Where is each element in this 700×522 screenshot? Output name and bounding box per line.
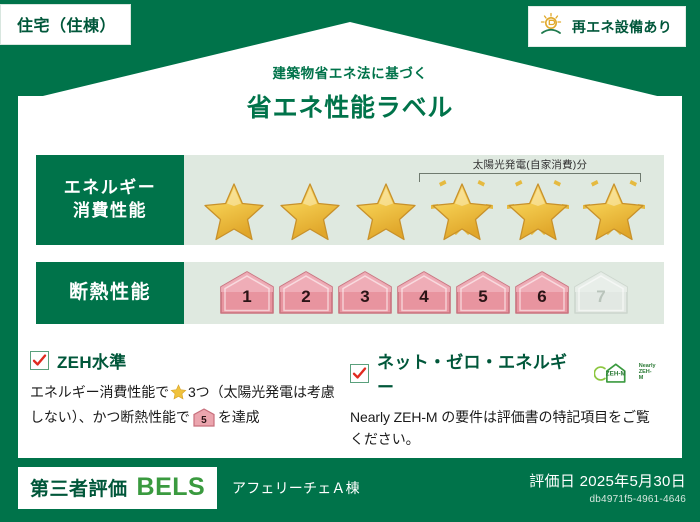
inline-star-icon xyxy=(170,384,187,407)
energy-row-value: 太陽光発電(自家消費)分 xyxy=(184,155,664,245)
insulation-level-number: 3 xyxy=(336,287,394,307)
insulation-level-scale: 1 2 3 4 5 6 7 xyxy=(218,270,630,316)
insulation-level-4: 4 xyxy=(395,270,453,316)
title-block: 建築物省エネ法に基づく 省エネ性能ラベル xyxy=(0,62,700,124)
energy-row-label-line1: エネルギー xyxy=(64,177,157,200)
insulation-level-number: 4 xyxy=(395,287,453,307)
net-zero-title: ネット・ゼロ・エネルギー xyxy=(377,348,582,398)
insulation-row-value: 1 2 3 4 5 6 7 xyxy=(184,262,664,324)
insulation-level-number: 7 xyxy=(572,287,630,307)
record-id: db4971f5-4961-4646 xyxy=(529,494,686,505)
net-zero-energy-panel: ネット・ゼロ・エネルギー ZEH-M Nearly ZEH-M Nearly Z… xyxy=(350,348,670,450)
renewable-equipment-badge: 再エネ設備あり xyxy=(528,6,686,47)
bels-logo-text: BELS xyxy=(137,473,206,502)
net-zero-body: Nearly ZEH-M の要件は評価書の特記項目をご覧ください。 xyxy=(350,407,656,450)
energy-row-label: エネルギー 消費性能 xyxy=(36,155,184,245)
star-2 xyxy=(273,169,347,241)
zeh-standard-checkbox[interactable] xyxy=(30,351,49,370)
renewable-badge-label: 再エネ設備あり xyxy=(572,17,672,37)
energy-performance-label: 住宅（住棟） 再エネ設備あり 建築物省エネ法に基づく 省エネ性能ラベル xyxy=(0,0,700,522)
zeh-standard-panel: ZEH水準 エネルギー消費性能で3つ（太陽光発電は考慮しない）、かつ断熱性能で5… xyxy=(30,348,350,450)
energy-consumption-row: エネルギー 消費性能 太陽光発電(自家消費)分 xyxy=(36,155,664,245)
check-icon xyxy=(352,366,367,381)
bels-evaluation-block: 第三者評価 BELS xyxy=(18,467,217,509)
inline-house-level-icon: 5 xyxy=(192,408,216,427)
star-5 xyxy=(501,169,575,241)
insulation-level-number: 2 xyxy=(277,287,335,307)
zeh-body-part1: エネルギー消費性能で xyxy=(30,384,169,400)
zeh-standard-head: ZEH水準 xyxy=(30,348,336,373)
footer: 第三者評価 BELS アフェリーチェＡ棟 評価日 2025年5月30日 db49… xyxy=(0,458,700,522)
zeh-standard-body: エネルギー消費性能で3つ（太陽光発電は考慮しない）、かつ断熱性能で5を達成 xyxy=(30,382,336,428)
star-3 xyxy=(349,169,423,241)
building-name: アフェリーチェＡ棟 xyxy=(232,478,360,498)
insulation-performance-row: 断熱性能 1 2 3 4 5 xyxy=(36,262,664,324)
zeh-standard-title: ZEH水準 xyxy=(57,348,127,373)
star-4 xyxy=(425,169,499,241)
insulation-level-7: 7 xyxy=(572,270,630,316)
evaluation-date: 評価日 2025年5月30日 xyxy=(529,470,686,491)
insulation-level-2: 2 xyxy=(277,270,335,316)
insulation-level-3: 3 xyxy=(336,270,394,316)
footer-right: 評価日 2025年5月30日 db4971f5-4961-4646 xyxy=(529,470,686,505)
star-6 xyxy=(577,169,651,241)
insulation-level-number: 5 xyxy=(454,287,512,307)
zeh-m-logo-sub2: ZEH-M xyxy=(639,370,656,382)
zeh-m-logo: ZEH-M Nearly ZEH-M xyxy=(594,360,656,387)
energy-row-label-line2: 消費性能 xyxy=(73,200,147,223)
check-icon xyxy=(32,353,47,368)
insulation-level-6: 6 xyxy=(513,270,571,316)
title-subtitle: 建築物省エネ法に基づく xyxy=(0,62,700,82)
third-party-evaluation-label: 第三者評価 xyxy=(30,474,128,501)
star-rating xyxy=(197,159,651,241)
insulation-row-label: 断熱性能 xyxy=(36,262,184,324)
inline-house-level-number: 5 xyxy=(192,413,216,429)
svg-text:ZEH-M: ZEH-M xyxy=(606,370,626,377)
insulation-level-1: 1 xyxy=(218,270,276,316)
building-type-tag: 住宅（住棟） xyxy=(0,4,131,45)
zeh-body-part3: を達成 xyxy=(218,409,260,425)
insulation-level-5: 5 xyxy=(454,270,512,316)
sun-renewable-icon xyxy=(538,12,564,41)
net-zero-checkbox[interactable] xyxy=(350,364,369,383)
criteria-panels: ZEH水準 エネルギー消費性能で3つ（太陽光発電は考慮しない）、かつ断熱性能で5… xyxy=(30,348,670,450)
page-title: 省エネ性能ラベル xyxy=(0,88,700,124)
star-1 xyxy=(197,169,271,241)
net-zero-head: ネット・ゼロ・エネルギー ZEH-M Nearly ZEH-M xyxy=(350,348,656,398)
insulation-level-number: 1 xyxy=(218,287,276,307)
insulation-level-number: 6 xyxy=(513,287,571,307)
